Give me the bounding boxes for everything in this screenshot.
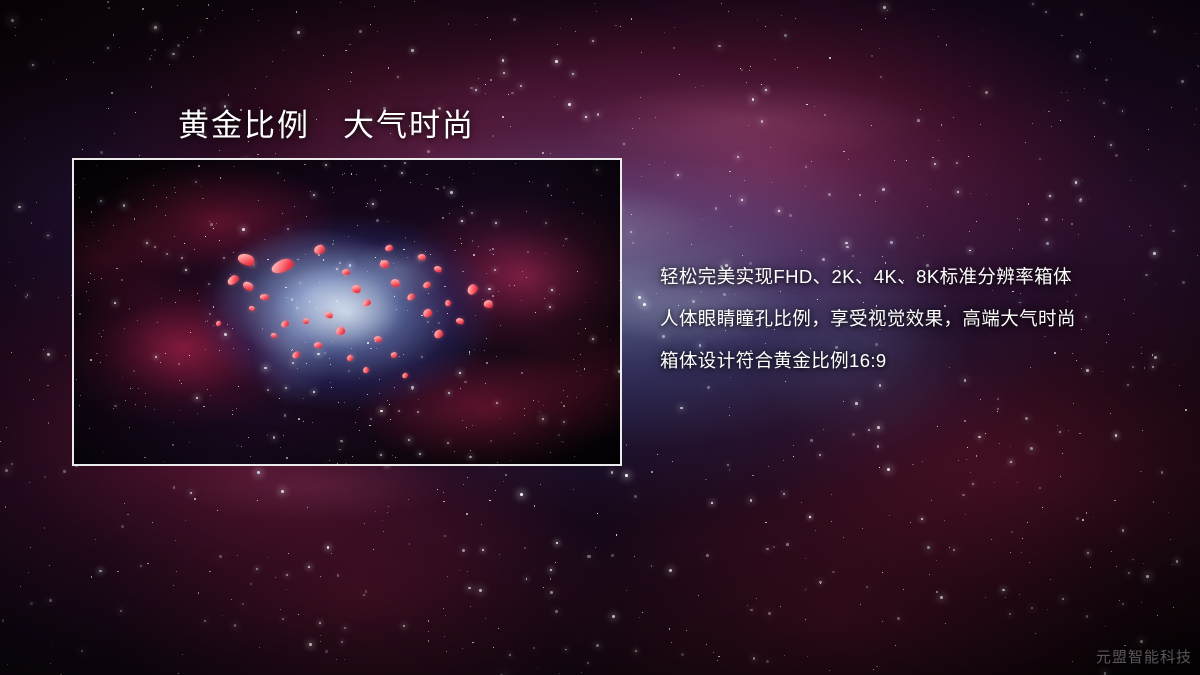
galaxy-photo-frame (72, 158, 622, 466)
presentation-slide: 黄金比例 大气时尚 轻松完美实现FHD、2K、4K、8K标准分辨率箱体 人体眼睛… (0, 0, 1200, 675)
description-line: 箱体设计符合黄金比例16:9 (660, 340, 1170, 382)
photo-vignette (74, 160, 620, 464)
description-line: 轻松完美实现FHD、2K、4K、8K标准分辨率箱体 (660, 256, 1170, 298)
description-line: 人体眼睛瞳孔比例，享受视觉效果，高端大气时尚 (660, 298, 1170, 340)
galaxy-photo (74, 160, 620, 464)
watermark: 元盟智能科技 (1096, 646, 1192, 667)
page-title: 黄金比例 大气时尚 (178, 100, 475, 145)
description-text-block: 轻松完美实现FHD、2K、4K、8K标准分辨率箱体 人体眼睛瞳孔比例，享受视觉效… (660, 256, 1170, 382)
